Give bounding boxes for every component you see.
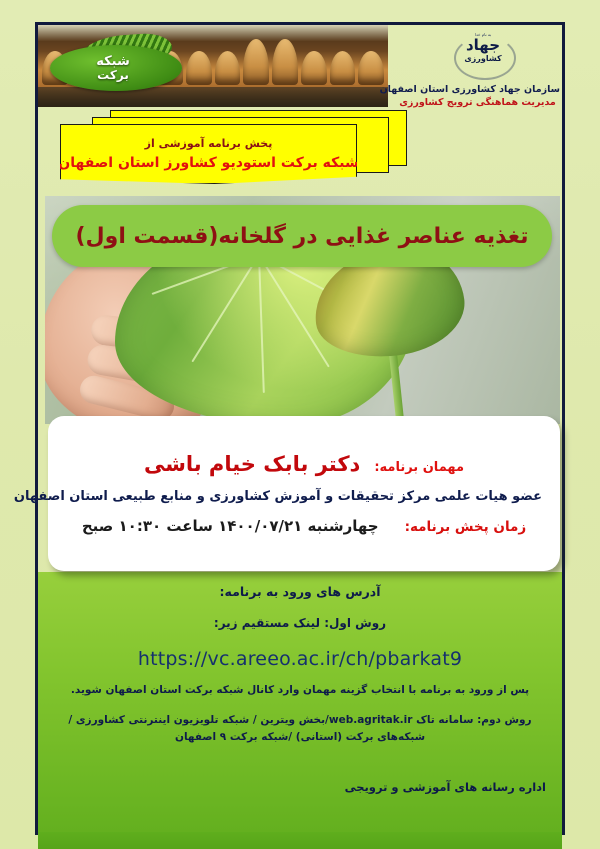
logo-name-line2: برکت — [46, 69, 180, 82]
organization-line-1: سازمان جهاد کشاورزی استان اصفهان — [395, 84, 560, 97]
broadcast-time-value: چهارشنبه ۱۴۰۰/۰۷/۲۱ ساعت ۱۰:۳۰ صبح — [82, 517, 379, 535]
wreath-icon — [454, 36, 516, 80]
access-heading: آدرس های ورود به برنامه: — [38, 584, 562, 599]
broadcast-time-label: زمان پخش برنامه: — [405, 519, 527, 535]
organization-line-2: مدیریت هماهنگی ترویج کشاورزی — [395, 97, 560, 110]
poster-root: شبکه برکت به نام خدا جهاد کشاورزی سازمان… — [0, 0, 600, 849]
method-one-label: روش اول: لینک مستقیم زیر: — [38, 616, 562, 630]
department-footer: اداره رسانه های آموزشی و ترویجی — [345, 780, 546, 794]
guest-label: مهمان برنامه: — [374, 460, 464, 475]
barkat-network-logo: شبکه برکت — [46, 31, 188, 97]
method-two-prefix: روش دوم: سامانه تاک — [412, 714, 531, 726]
announcement-line-2: شبکه برکت استودیو کشاورز استان اصفهان — [58, 155, 359, 171]
jihad-keshavarzi-seal: به نام خدا جهاد کشاورزی — [440, 32, 526, 78]
bottom-green-strip — [38, 832, 562, 849]
agritak-url[interactable]: web.agritak.ir — [329, 714, 413, 726]
guest-affiliation: عضو هیات علمی مرکز تحقیقات و آموزش کشاور… — [66, 489, 542, 504]
after-entry-note: پس از ورود به برنامه با انتخاب گزینه مهم… — [38, 684, 562, 696]
announcement-line-1: پخش برنامه آموزشی از — [145, 137, 273, 150]
guest-row: مهمان برنامه: دکتر بابک خیام باشی — [66, 452, 542, 476]
logo-text: شبکه برکت — [46, 55, 180, 81]
broadcast-time-row: زمان پخش برنامه: چهارشنبه ۱۴۰۰/۰۷/۲۱ ساع… — [66, 517, 542, 535]
guest-name: دکتر بابک خیام باشی — [144, 452, 360, 476]
announcement-card-front: پخش برنامه آموزشی از شبکه برکت استودیو ک… — [60, 124, 357, 184]
logo-name-line1: شبکه — [96, 54, 130, 69]
organization-block: سازمان جهاد کشاورزی استان اصفهان مدیریت … — [395, 84, 560, 110]
method-two-instructions: روش دوم: سامانه تاک web.agritak.ir/بخش و… — [49, 712, 552, 746]
access-instructions-panel: آدرس های ورود به برنامه: روش اول: لینک م… — [38, 572, 562, 832]
program-details-card: مهمان برنامه: دکتر بابک خیام باشی عضو هی… — [48, 416, 560, 571]
meeting-link[interactable]: https://vc.areeo.ac.ir/ch/pbarkat9 — [38, 648, 562, 670]
page-title: تغذیه عناصر غذایی در گلخانه(قسمت اول) — [76, 224, 529, 249]
announcement-card-stack: پخش برنامه آموزشی از شبکه برکت استودیو ک… — [40, 110, 415, 188]
program-title-banner: تغذیه عناصر غذایی در گلخانه(قسمت اول) — [52, 205, 552, 267]
